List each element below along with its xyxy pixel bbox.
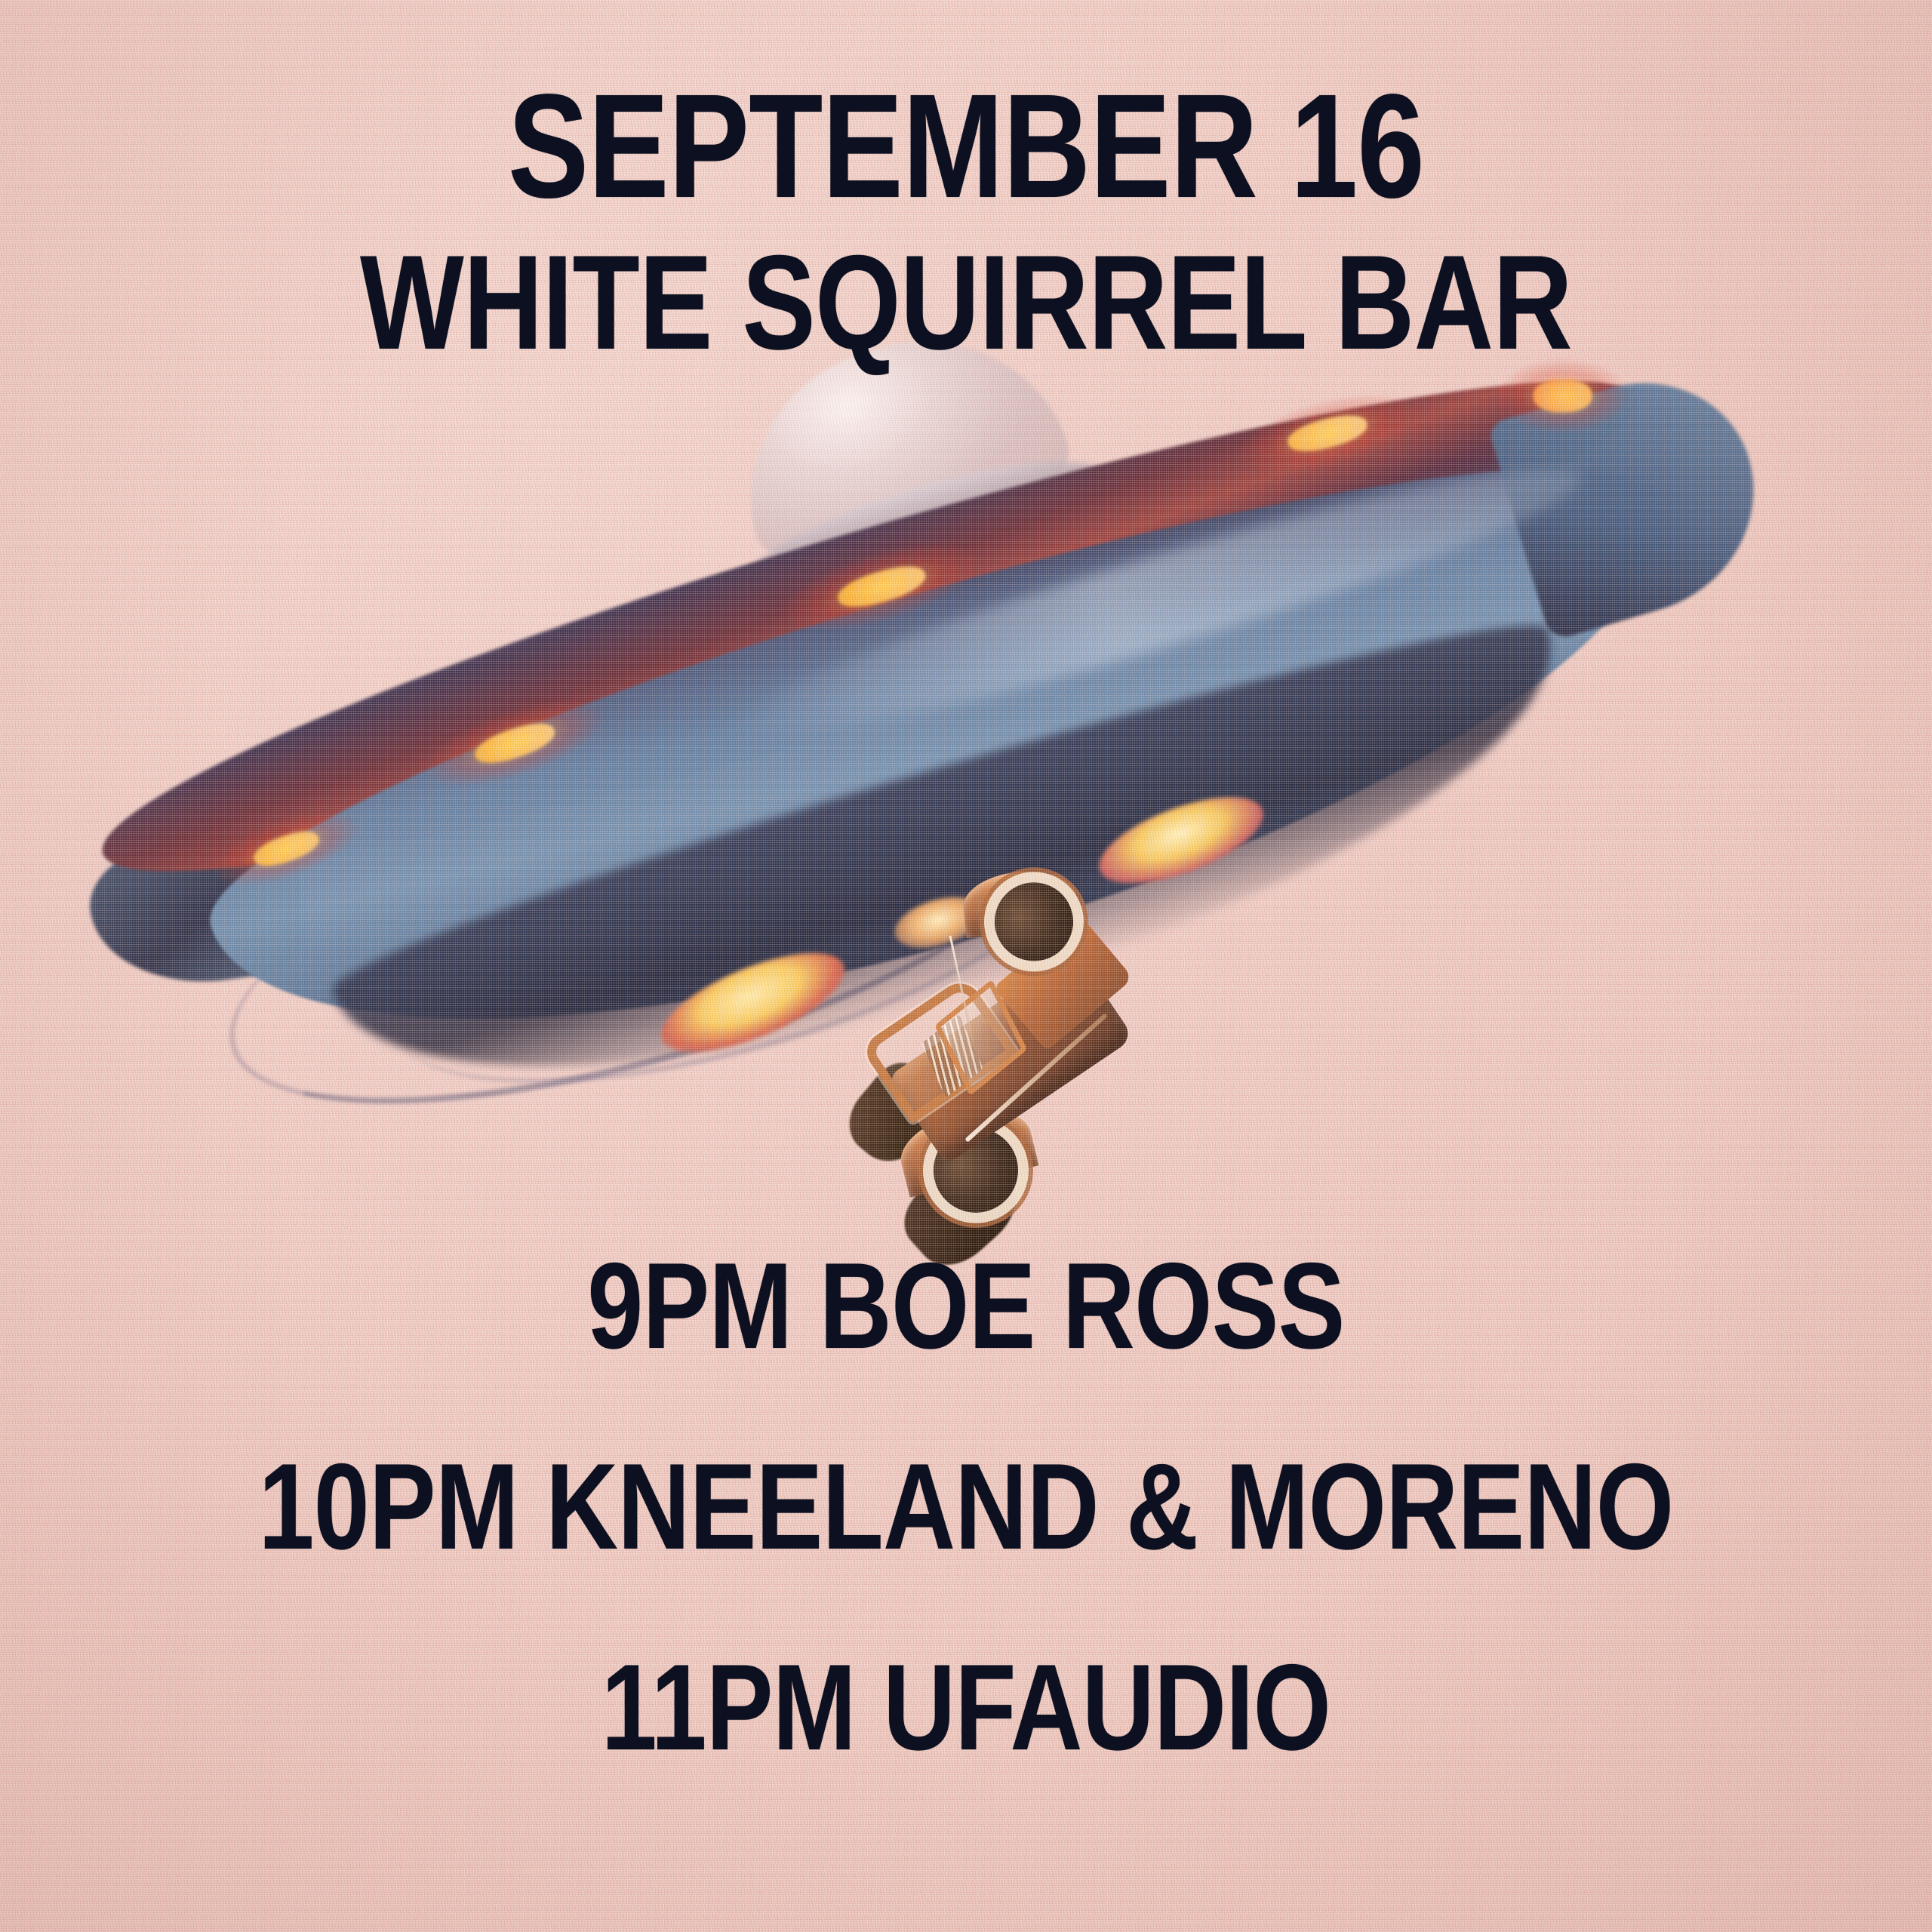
lineup-slot-2: 10PM KNEELAND & MORENO xyxy=(174,1446,1758,1568)
event-venue: WHITE SQUIRREL BAR xyxy=(174,235,1758,370)
lineup-slot-1: 9PM BOE ROSS xyxy=(174,1245,1758,1367)
gig-poster: SEPTEMBER 16 WHITE SQUIRREL BAR 9PM BOE … xyxy=(0,0,1932,1932)
lineup-slot-3: 11PM UFAUDIO xyxy=(174,1647,1758,1769)
event-date: SEPTEMBER 16 xyxy=(174,72,1758,220)
